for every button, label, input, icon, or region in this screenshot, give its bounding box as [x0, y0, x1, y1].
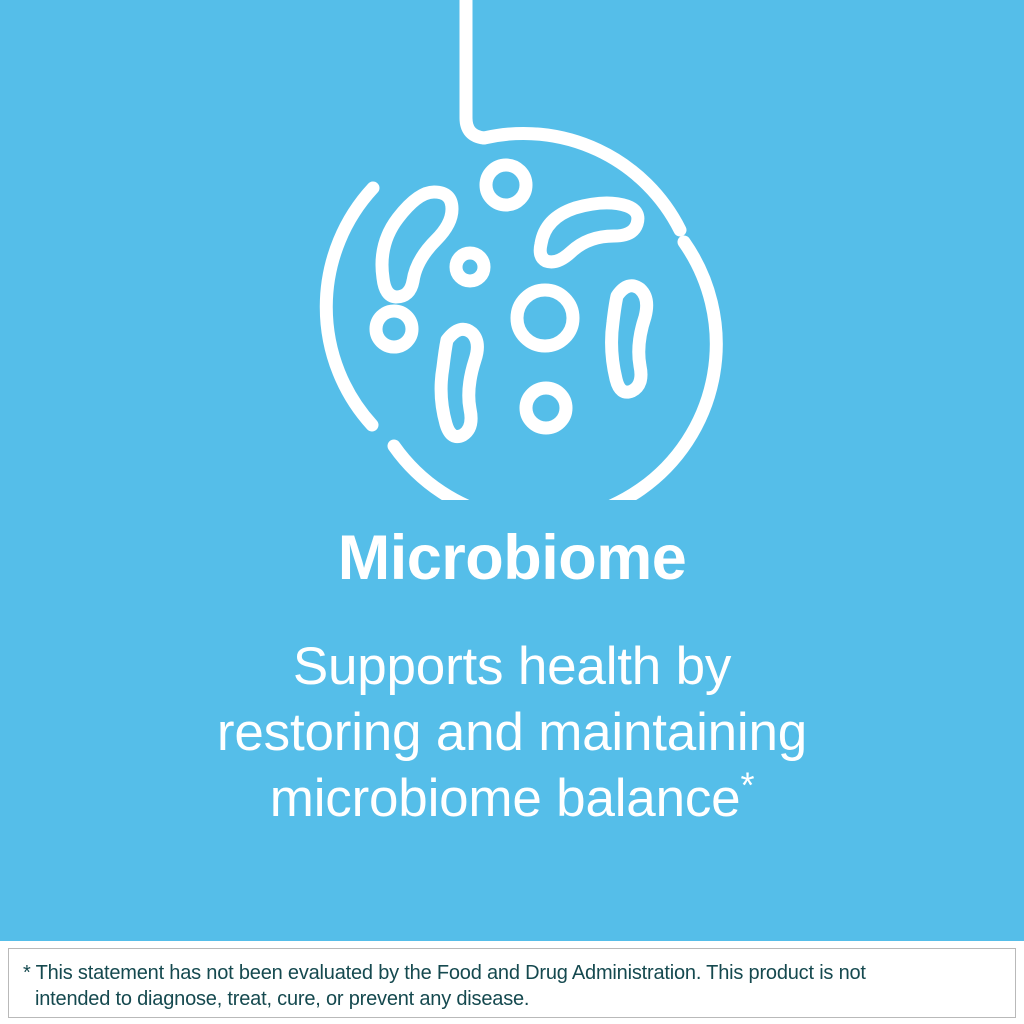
microbiome-benefit-card: Microbiome Supports health by restoring …: [0, 0, 1024, 1024]
disclaimer-line-1: * This statement has not been evaluated …: [23, 960, 1001, 986]
microbe-rod-right: [612, 286, 647, 392]
headline-block: Microbiome Supports health by restoring …: [0, 520, 1024, 832]
microbe-ring-large-center: [517, 290, 573, 346]
disclaimer-text: * This statement has not been evaluated …: [23, 960, 1001, 1012]
disclaimer-line-2: intended to diagnose, treat, cure, or pr…: [23, 986, 1001, 1012]
footer-panel: * This statement has not been evaluated …: [0, 941, 1024, 1024]
subtitle-line-2: restoring and maintaining: [0, 700, 1024, 766]
icon-container: [0, 0, 1024, 500]
subtitle-line-3-text: microbiome balance: [270, 769, 741, 828]
footnote-marker: *: [740, 764, 754, 805]
dish-rim-arc-top-right: [484, 133, 680, 230]
microbe-rod-upper-right: [540, 203, 638, 262]
disclaimer-box: * This statement has not been evaluated …: [8, 948, 1016, 1018]
microbe-ring-small-center: [456, 253, 484, 281]
dish-rim-arc-left: [326, 188, 373, 425]
page-title: Microbiome: [0, 520, 1024, 596]
subtitle-line-3: microbiome balance*: [0, 766, 1024, 832]
hero-panel: Microbiome Supports health by restoring …: [0, 0, 1024, 941]
subtitle: Supports health by restoring and maintai…: [0, 634, 1024, 832]
microbe-ring-bottom: [526, 388, 566, 428]
microbe-ring-top: [486, 165, 526, 205]
dish-stem: [466, 0, 484, 138]
subtitle-line-1: Supports health by: [0, 634, 1024, 700]
microbe-ring-left: [376, 311, 412, 347]
microbe-rod-lower-center: [441, 329, 477, 436]
microbe-rod-upper-left: [382, 192, 452, 297]
microbiome-petri-dish-icon: [0, 0, 1024, 500]
